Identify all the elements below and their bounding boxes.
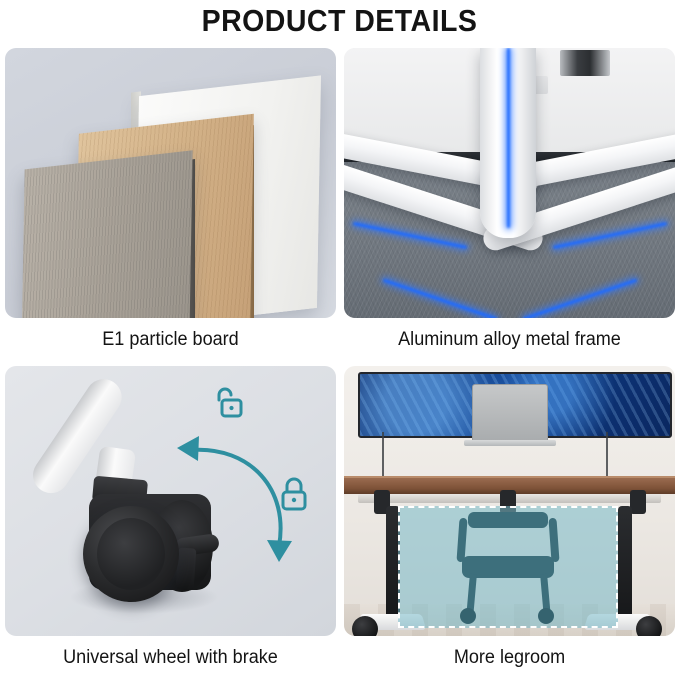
laptop (472, 384, 548, 444)
particle-board-image (5, 48, 336, 318)
chair-caster-right (538, 608, 554, 624)
desk-caster-left (352, 616, 378, 636)
grey-board (21, 150, 192, 318)
desk-caster-right (636, 616, 662, 636)
caption-aluminum-alloy-metal-frame: Aluminum alloy metal frame (352, 318, 666, 362)
caster-wheel-face (97, 518, 165, 590)
legroom-image (344, 366, 675, 636)
lock-icon (277, 474, 311, 512)
unlock-icon (210, 384, 244, 420)
detail-cell-more-legroom: More legroom (344, 366, 675, 680)
chair (452, 512, 564, 622)
caption-e1-particle-board: E1 particle board (13, 318, 327, 362)
detail-cell-universal-wheel: Universal wheel with brake (5, 366, 336, 680)
details-grid: E1 particle board Aluminum al (0, 42, 679, 673)
cable-right (606, 432, 608, 480)
detail-cell-aluminum-frame: Aluminum alloy metal frame (344, 48, 675, 362)
product-details-page: PRODUCT DETAILS E1 particle board (0, 0, 679, 673)
chair-arm-right (548, 518, 559, 562)
aluminum-frame-image (344, 48, 675, 318)
cable-left (382, 432, 384, 482)
chair-caster-left (460, 608, 476, 624)
detail-cell-e1-particle-board: E1 particle board (5, 48, 336, 362)
wall-device (560, 50, 610, 76)
page-title: PRODUCT DETAILS (27, 0, 652, 42)
caster-wheel-image (5, 366, 336, 636)
caption-more-legroom: More legroom (352, 636, 666, 680)
desk-bracket-right (630, 490, 646, 514)
laptop-base (464, 440, 556, 446)
chair-backrest (468, 512, 548, 528)
caption-universal-wheel-with-brake: Universal wheel with brake (13, 636, 327, 680)
desk-leg-right (618, 506, 632, 622)
column-glow-line (507, 48, 510, 228)
